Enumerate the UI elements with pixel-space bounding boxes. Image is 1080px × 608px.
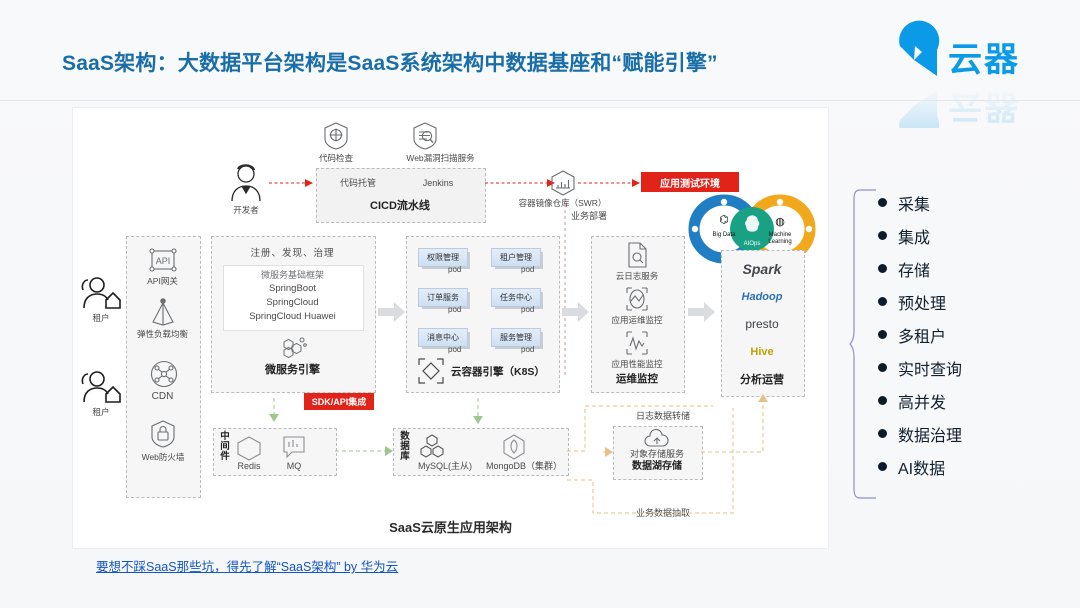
- header-divider: [0, 100, 1080, 101]
- bullet-label-3: 预处理: [898, 290, 946, 314]
- bullet-label-0: 采集: [898, 191, 930, 215]
- brand-logo-reflection: 云器: [891, 84, 1020, 128]
- bullets-brace: [850, 188, 876, 500]
- bullet-dot-icon: [878, 462, 887, 471]
- bullet-label-7: 数据治理: [898, 422, 962, 446]
- diagram-caption: SaaS云原生应用架构: [73, 517, 828, 536]
- bullet-item-7: 数据治理: [878, 417, 1058, 450]
- brand-logo: 云器: [891, 38, 1020, 82]
- bullet-label-5: 实时查询: [898, 356, 962, 380]
- yunqi-logo-mark-icon: [891, 38, 939, 82]
- bullet-item-4: 多租户: [878, 318, 1058, 351]
- bullet-label-8: AI数据: [898, 455, 945, 479]
- yunqi-logo-mark-reflection-icon: [891, 84, 939, 128]
- bullet-item-5: 实时查询: [878, 351, 1058, 384]
- bullet-label-2: 存储: [898, 257, 930, 281]
- bullet-dot-icon: [878, 198, 887, 207]
- bullet-item-2: 存储: [878, 252, 1058, 285]
- bullet-label-6: 高并发: [898, 389, 946, 413]
- diagram-connectors: [73, 108, 828, 548]
- source-link[interactable]: 要想不踩SaaS那些坑，得先了解“SaaS架构” by 华为云: [96, 556, 398, 575]
- bullet-item-1: 集成: [878, 219, 1058, 252]
- bullet-dot-icon: [878, 396, 887, 405]
- slide-root: SaaS架构：大数据平台架构是SaaS系统架构中数据基座和“赋能引擎” 云器 云…: [0, 0, 1080, 608]
- logo-text-reflection: 云器: [948, 89, 1020, 123]
- bullet-item-6: 高并发: [878, 384, 1058, 417]
- bullet-dot-icon: [878, 429, 887, 438]
- bullet-item-0: 采集: [878, 186, 1058, 219]
- bullet-label-1: 集成: [898, 224, 930, 248]
- bullet-dot-icon: [878, 330, 887, 339]
- bullet-dot-icon: [878, 363, 887, 372]
- capability-bullets: 采集 集成 存储 预处理 多租户 实时查询 高并发 数据治理: [878, 186, 1058, 483]
- bullet-dot-icon: [878, 264, 887, 273]
- bullet-label-4: 多租户: [898, 323, 946, 347]
- architecture-diagram: 代码检查 Web漏洞扫描服务 开发者 代码托管 Jen: [72, 107, 829, 549]
- bullet-dot-icon: [878, 231, 887, 240]
- bullet-item-3: 预处理: [878, 285, 1058, 318]
- page-title: SaaS架构：大数据平台架构是SaaS系统架构中数据基座和“赋能引擎”: [62, 47, 718, 77]
- bullet-item-8: AI数据: [878, 450, 1058, 483]
- logo-text: 云器: [948, 43, 1020, 77]
- bullet-dot-icon: [878, 297, 887, 306]
